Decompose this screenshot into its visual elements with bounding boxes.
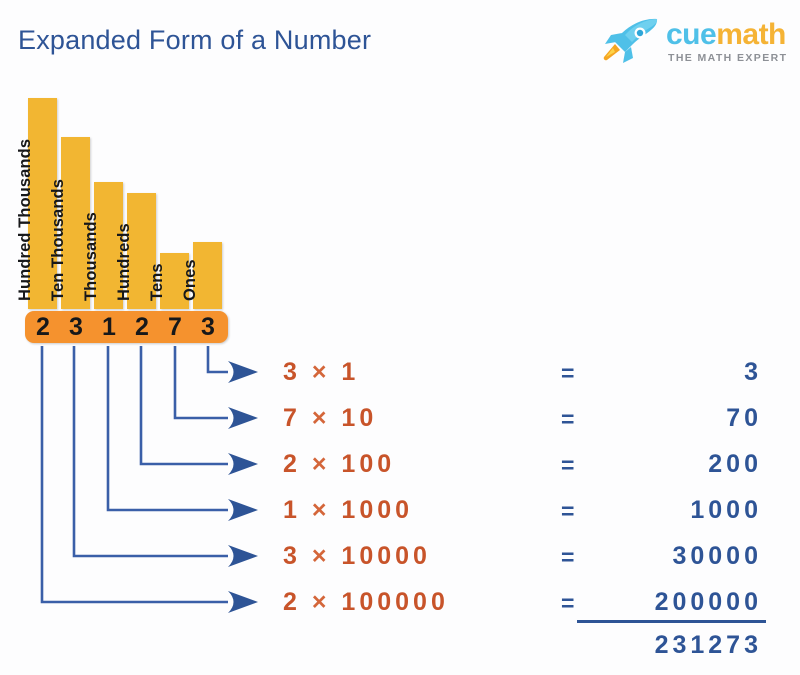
sum-divider-line (577, 620, 766, 623)
equation-digit: 1 (283, 496, 301, 524)
multiply-icon: × (312, 358, 331, 386)
equation-expression: 2 × 100 (283, 450, 395, 479)
equation-place-value: 1 (341, 358, 359, 386)
equation-digit: 3 (283, 358, 301, 386)
equation-expression: 7 × 10 (283, 404, 377, 433)
equation-digit: 3 (283, 542, 301, 570)
equation-place-value: 10000 (341, 542, 431, 570)
equation-expression: 3 × 1 (283, 358, 359, 387)
multiply-icon: × (312, 542, 331, 570)
equation-result: 70 (726, 404, 762, 433)
equation-place-value: 1000 (341, 496, 413, 524)
equation-list: 3 × 1 = 3 7 × 10 = 70 2 × 100 = 200 1 × … (0, 0, 800, 675)
equation-result: 3 (744, 358, 762, 387)
equation-place-value: 100 (341, 450, 395, 478)
sum-total: 231273 (655, 631, 762, 660)
infographic-canvas: Expanded Form of a Number cuemath THE MA… (0, 0, 800, 675)
equals-icon: = (561, 544, 574, 571)
equation-digit: 7 (283, 404, 301, 432)
multiply-icon: × (312, 496, 331, 524)
equals-icon: = (561, 498, 574, 525)
equation-digit: 2 (283, 588, 301, 616)
equation-place-value: 10 (341, 404, 377, 432)
multiply-icon: × (312, 588, 331, 616)
equation-digit: 2 (283, 450, 301, 478)
equation-result: 200000 (655, 588, 762, 617)
equation-result: 1000 (690, 496, 762, 525)
equals-icon: = (561, 590, 574, 617)
equals-icon: = (561, 406, 574, 433)
equation-result: 200 (708, 450, 762, 479)
equals-icon: = (561, 360, 574, 387)
multiply-icon: × (312, 404, 331, 432)
equation-expression: 2 × 100000 (283, 588, 449, 617)
equation-expression: 3 × 10000 (283, 542, 431, 571)
equals-icon: = (561, 452, 574, 479)
equation-result: 30000 (672, 542, 762, 571)
multiply-icon: × (312, 450, 331, 478)
equation-place-value: 100000 (341, 588, 448, 616)
equation-expression: 1 × 1000 (283, 496, 413, 525)
